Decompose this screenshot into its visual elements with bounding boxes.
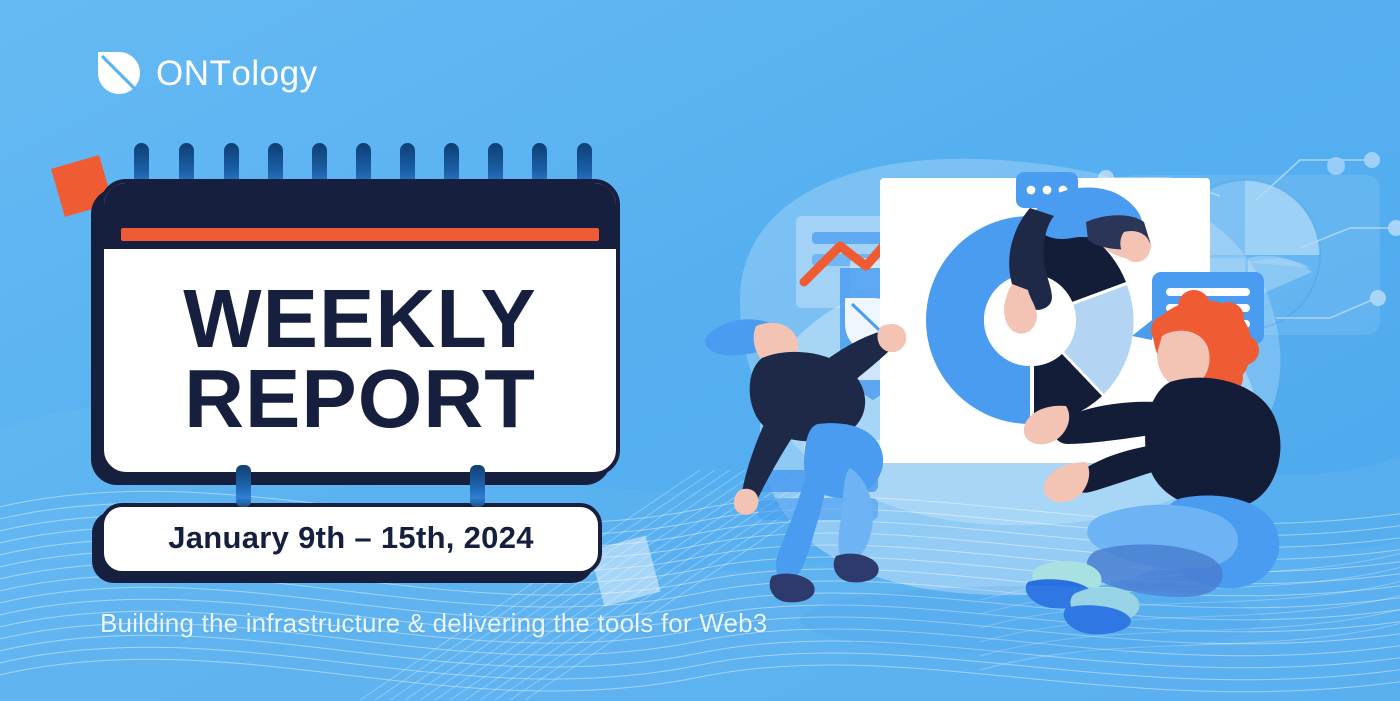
ground-shadow bbox=[800, 586, 1260, 654]
weekly-report-banner: ONTology WEEKLY REPORT bbox=[0, 0, 1400, 701]
callout-node bbox=[1370, 290, 1386, 306]
dot-accent bbox=[1327, 157, 1345, 175]
calendar-accent-stripe bbox=[121, 228, 599, 241]
shoe bbox=[770, 574, 815, 603]
callout-node bbox=[1388, 220, 1400, 236]
bubble-line bbox=[1166, 288, 1250, 296]
brand-logo[interactable]: ONTology bbox=[96, 50, 318, 96]
calendar-card: WEEKLY REPORT bbox=[100, 143, 620, 476]
brand-name-bold: ONT bbox=[156, 54, 231, 93]
report-title-line2: REPORT bbox=[104, 359, 616, 439]
calendar-header-bar bbox=[104, 183, 616, 249]
brand-name: ONTology bbox=[156, 56, 318, 91]
brand-name-light: ology bbox=[231, 54, 317, 93]
report-title-line1: WEEKLY bbox=[104, 279, 616, 359]
calendar-connector-tab bbox=[236, 465, 251, 507]
tagline: Building the infrastructure & delivering… bbox=[100, 608, 767, 639]
calendar-connector-tabs bbox=[0, 465, 1400, 507]
calendar-content: WEEKLY REPORT bbox=[104, 249, 616, 472]
calendar-connector-tab bbox=[470, 465, 485, 507]
date-range-text: January 9th – 15th, 2024 bbox=[104, 520, 598, 556]
date-range-card: January 9th – 15th, 2024 bbox=[100, 503, 602, 575]
data-analytics-teamwork-illustration bbox=[700, 0, 1400, 701]
dot bbox=[1027, 186, 1036, 195]
callout-node bbox=[1364, 152, 1380, 168]
calendar-body: WEEKLY REPORT bbox=[100, 179, 620, 476]
dot bbox=[1043, 186, 1052, 195]
ontology-leaf-icon bbox=[96, 50, 142, 96]
